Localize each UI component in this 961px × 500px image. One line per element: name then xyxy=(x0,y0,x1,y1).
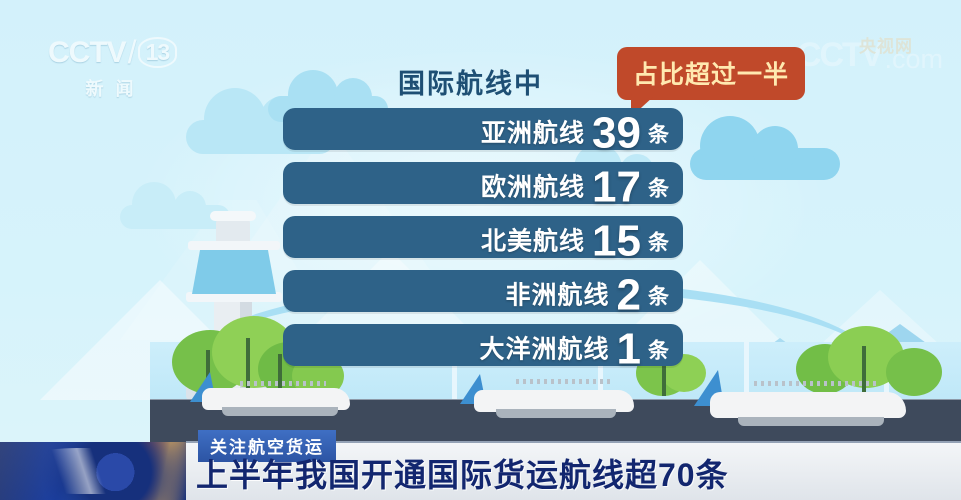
bar-unit: 条 xyxy=(648,281,669,311)
bar-content: 北美航线 15 条 xyxy=(283,217,669,258)
bar-label: 北美航线 xyxy=(481,222,585,258)
bar-chart: 亚洲航线 39 条 欧洲航线 17 条 北美航线 15 条 非洲航线 2 xyxy=(283,108,683,378)
bar-unit: 条 xyxy=(648,227,669,257)
headline-text: 上半年我国开通国际货运航线超70条 xyxy=(196,450,729,496)
table-row: 非洲航线 2 条 xyxy=(283,270,683,312)
lower-third: 关注航空货运 上半年我国开通国际货运航线超70条 xyxy=(0,442,961,500)
airplane-windows xyxy=(516,379,612,384)
control-tower-cab xyxy=(192,248,276,294)
airplane-windows xyxy=(240,381,326,386)
airplane xyxy=(186,374,346,424)
bar-content: 大洋洲航线 1 条 xyxy=(283,325,669,366)
table-row: 欧洲航线 17 条 xyxy=(283,162,683,204)
bar-value: 17 xyxy=(592,169,641,206)
airplane-wing xyxy=(222,407,338,416)
callout-label: 占比超过一半 xyxy=(633,61,789,89)
bar-value: 1 xyxy=(617,331,641,368)
channel-logo-text: CCTV xyxy=(48,36,126,70)
airplane-windows xyxy=(754,381,878,386)
channel-logo-main: CCTV / 13 xyxy=(48,34,183,71)
channel-logo-subtitle: 新闻 xyxy=(48,75,183,101)
channel-logo: CCTV / 13 新闻 xyxy=(48,34,183,101)
bar-content: 欧洲航线 17 条 xyxy=(283,163,669,204)
bar-label: 欧洲航线 xyxy=(481,168,585,204)
table-row: 亚洲航线 39 条 xyxy=(283,108,683,150)
control-tower-cap xyxy=(210,211,256,221)
channel-logo-slash: / xyxy=(128,34,136,71)
airplane xyxy=(432,372,612,428)
cloud-shape xyxy=(690,148,840,180)
bar-value: 2 xyxy=(617,277,641,314)
airplane xyxy=(676,374,896,436)
table-row: 北美航线 15 条 xyxy=(283,216,683,258)
channel-logo-number: 13 xyxy=(138,37,178,68)
airplane-fuselage xyxy=(710,392,906,418)
news-logo-swoosh xyxy=(10,448,180,494)
watermark-chinese-text: 央视网 xyxy=(859,32,913,57)
bar-label: 亚洲航线 xyxy=(481,114,585,150)
broadcast-screen: CCTV / 13 新闻 CCTV .com 央视网 国际航线中 占比超过一半 … xyxy=(0,0,961,500)
callout-badge: 占比超过一半 xyxy=(617,47,805,100)
bar-unit: 条 xyxy=(648,335,669,365)
bar-value: 39 xyxy=(592,115,641,152)
table-row: 大洋洲航线 1 条 xyxy=(283,324,683,366)
bar-label: 大洋洲航线 xyxy=(480,330,610,366)
bar-unit: 条 xyxy=(648,173,669,203)
airplane-wing xyxy=(496,409,616,418)
control-tower-cab-roof xyxy=(188,241,280,250)
watermark: CCTV .com 央视网 xyxy=(797,36,943,75)
page-title: 国际航线中 xyxy=(398,62,543,101)
control-tower-neck xyxy=(216,219,250,241)
news-logo-graphic xyxy=(0,442,186,500)
bar-value: 15 xyxy=(592,223,641,260)
bar-content: 亚洲航线 39 条 xyxy=(283,109,669,150)
bar-unit: 条 xyxy=(648,119,669,149)
bar-content: 非洲航线 2 条 xyxy=(283,271,669,312)
bar-label: 非洲航线 xyxy=(506,276,610,312)
airplane-wing xyxy=(738,417,884,426)
